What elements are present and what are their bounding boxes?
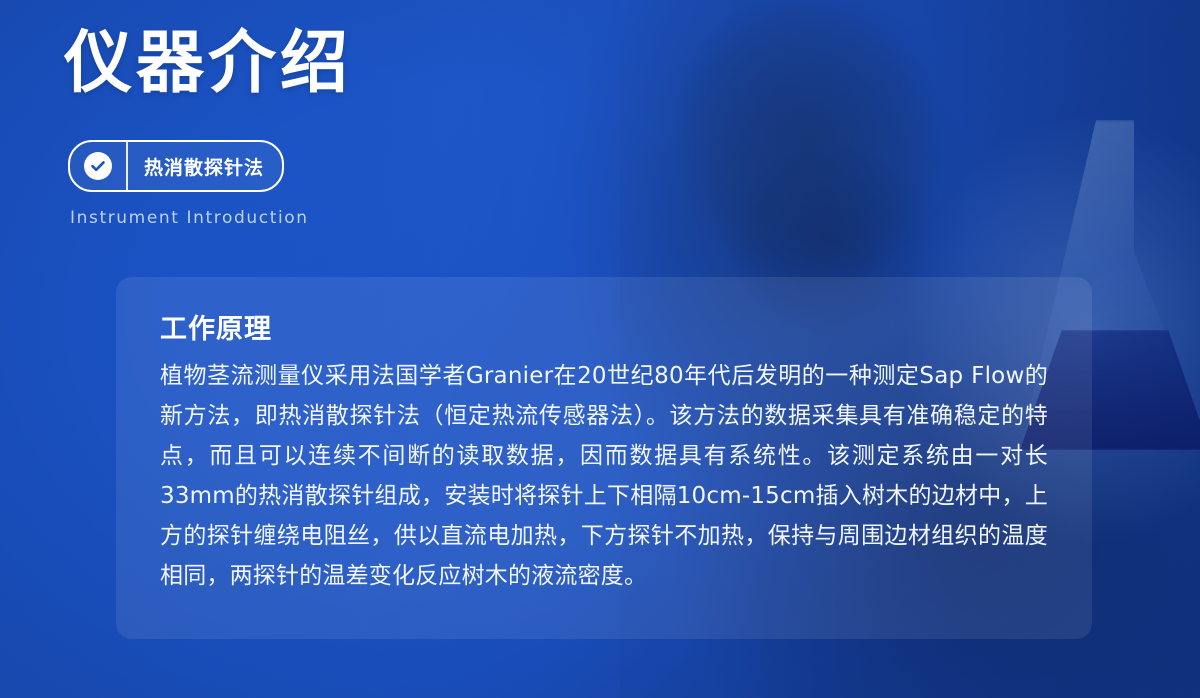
- badge-check-container: [70, 142, 128, 190]
- badge-label: 热消散探针法: [128, 142, 282, 190]
- content-card: 工作原理 植物茎流测量仪采用法国学者Granier在20世纪80年代后发明的一种…: [116, 277, 1092, 639]
- header-block: 仪器介绍 热消散探针法 Instrument Introduction: [64, 30, 684, 98]
- check-circle-icon: [84, 152, 112, 180]
- page-title: 仪器介绍: [64, 30, 684, 98]
- card-body-text: 植物茎流测量仪采用法国学者Granier在20世纪80年代后发明的一种测定Sap…: [160, 356, 1048, 596]
- poster-page: 仪器介绍 热消散探针法 Instrument Introduction 工作原理…: [0, 0, 1200, 698]
- page-subtitle: Instrument Introduction: [70, 208, 309, 228]
- card-title: 工作原理: [160, 307, 1048, 346]
- method-badge: 热消散探针法: [68, 140, 284, 192]
